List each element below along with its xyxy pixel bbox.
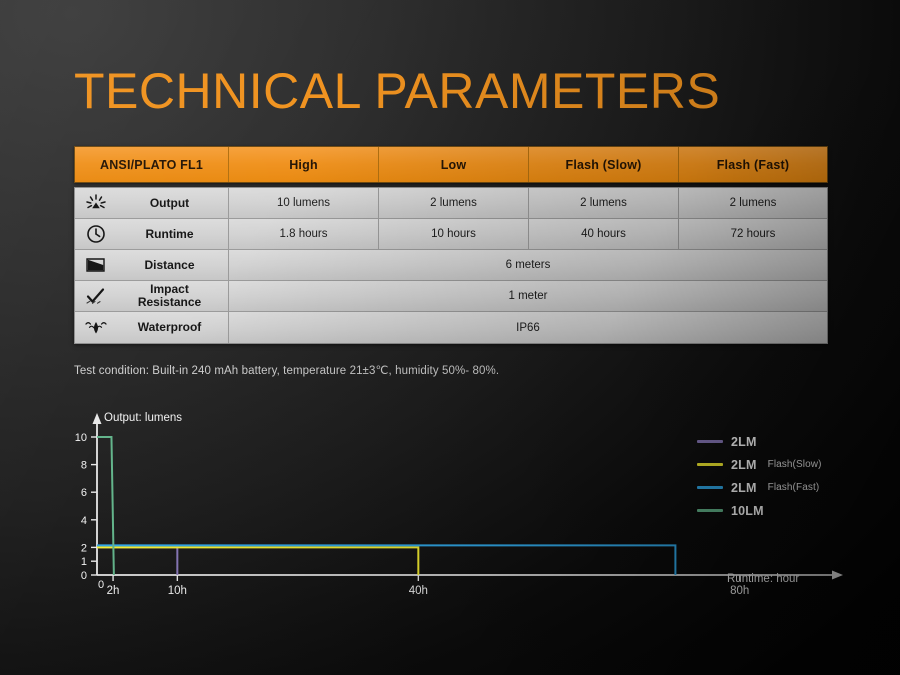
y-tick-label: 4 [81, 515, 87, 527]
impact-line-2: Resistance [138, 295, 201, 309]
row-label-impact-resistance: ImpactResistance [75, 281, 229, 311]
clock-icon [81, 223, 111, 245]
impact-check-icon [81, 285, 111, 307]
table-cell-merged: 1 meter [229, 281, 827, 311]
row-label-output: Output [75, 188, 229, 218]
table-cell: 10 lumens [229, 188, 379, 218]
table-header-cell-2: Low [379, 147, 529, 182]
y-tick-label: 6 [81, 487, 87, 499]
table-header-row: ANSI/PLATO FL1 High Low Flash (Slow) Fla… [74, 146, 828, 183]
table-row: Output 10 lumens 2 lumens 2 lumens 2 lum… [75, 188, 827, 219]
y-tick-label: 1 [81, 556, 87, 568]
chart-legend: 2LM2LMFlash(Slow)2LMFlash(Fast)10LM [697, 430, 887, 522]
table-cell-merged: IP66 [229, 312, 827, 343]
legend-swatch-icon [697, 486, 723, 489]
legend-item: 10LM [697, 499, 887, 522]
table-row: Distance 6 meters [75, 250, 827, 281]
table-cell: 2 lumens [529, 188, 679, 218]
chart-series [97, 437, 675, 575]
row-label-text: Distance [117, 259, 228, 272]
legend-label: 2LM [731, 435, 757, 449]
chart-line-10lm [97, 437, 114, 575]
waterdrop-icon [81, 317, 111, 339]
table-cell-merged: 6 meters [229, 250, 827, 280]
x-tick-label: 0 [98, 579, 104, 591]
table-row: Runtime 1.8 hours 10 hours 40 hours 72 h… [75, 219, 827, 250]
legend-item: 2LM [697, 430, 887, 453]
table-cell: 72 hours [679, 219, 827, 249]
row-label-text: Output [117, 197, 228, 210]
y-tick-label: 2 [81, 542, 87, 554]
chart-ticks: 0124681002h10h40h80h [75, 432, 750, 597]
chart-line-2lm-flashfast [97, 545, 675, 575]
chart-line-2lm [97, 547, 177, 575]
chart-x-axis-label: Runtime: hour [727, 573, 799, 585]
x-tick-label: 2h [107, 585, 120, 597]
page-title: TECHNICAL PARAMETERS [74, 66, 720, 116]
row-label-waterproof: Waterproof [75, 312, 229, 343]
specs-table: ANSI/PLATO FL1 High Low Flash (Slow) Fla… [74, 146, 828, 344]
legend-label: 2LM [731, 481, 757, 495]
table-header-cell-3: Flash (Slow) [529, 147, 679, 182]
row-label-text: ImpactResistance [117, 283, 228, 308]
legend-sublabel: Flash(Slow) [768, 459, 822, 470]
y-tick-label: 0 [81, 570, 87, 582]
row-label-distance: Distance [75, 250, 229, 280]
table-header-cell-0: ANSI/PLATO FL1 [75, 147, 229, 182]
chart-line-2lm-flashslow [97, 547, 418, 575]
light-burst-icon [81, 192, 111, 214]
row-label-runtime: Runtime [75, 219, 229, 249]
legend-swatch-icon [697, 509, 723, 512]
legend-swatch-icon [697, 463, 723, 466]
slide-root: TECHNICAL PARAMETERS ANSI/PLATO FL1 High… [0, 0, 900, 675]
chart-y-axis-label: Output: lumens [104, 412, 182, 424]
table-row: Waterproof IP66 [75, 312, 827, 343]
legend-label: 10LM [731, 504, 764, 518]
table-header-cell-1: High [229, 147, 379, 182]
table-cell: 40 hours [529, 219, 679, 249]
beam-distance-icon [81, 254, 111, 276]
table-cell: 2 lumens [379, 188, 529, 218]
row-label-text: Runtime [117, 228, 228, 241]
y-tick-label: 10 [75, 432, 87, 444]
test-condition-note: Test condition: Built-in 240 mAh battery… [74, 363, 499, 377]
table-cell: 10 hours [379, 219, 529, 249]
table-row: ImpactResistance 1 meter [75, 281, 827, 312]
x-tick-label: 80h [730, 585, 749, 597]
table-header-cell-4: Flash (Fast) [679, 147, 827, 182]
legend-item: 2LMFlash(Slow) [697, 453, 887, 476]
table-body: Output 10 lumens 2 lumens 2 lumens 2 lum… [74, 187, 828, 344]
row-label-text: Waterproof [117, 321, 228, 334]
table-cell: 2 lumens [679, 188, 827, 218]
legend-label: 2LM [731, 458, 757, 472]
table-cell: 1.8 hours [229, 219, 379, 249]
legend-sublabel: Flash(Fast) [768, 482, 820, 493]
x-tick-label: 40h [409, 585, 428, 597]
x-tick-label: 10h [168, 585, 187, 597]
legend-swatch-icon [697, 440, 723, 443]
y-tick-label: 8 [81, 460, 87, 472]
legend-item: 2LMFlash(Fast) [697, 476, 887, 499]
